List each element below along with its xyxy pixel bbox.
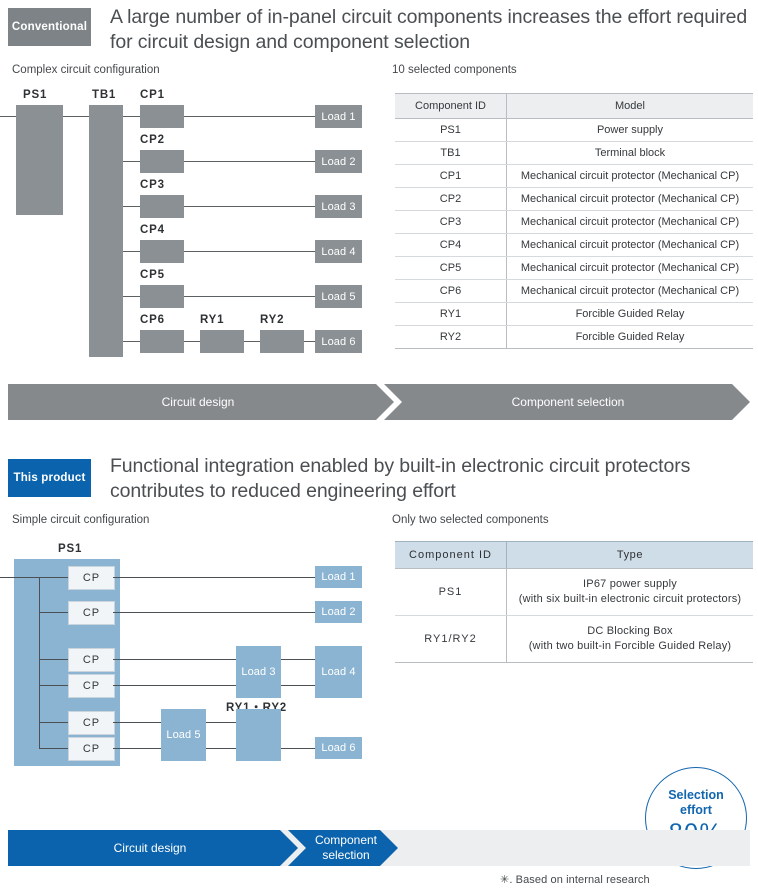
badge-conventional: Conventional [8,8,91,46]
block-cp-4: CP [68,674,115,698]
cell-component-id: CP3 [395,211,507,234]
tag-ry1: RY1 [200,314,224,326]
diagram-product: PS1 RY1・RY2 CP CP CP CP CP CP Load 3 Loa… [0,535,380,775]
label-simple-circuit-configuration: Simple circuit configuration [12,514,149,526]
load-box-3-product: Load 3 [236,646,281,698]
cell-type-line1: DC Blocking Box [511,624,749,639]
process-step-circuit-design-product: Circuit design [8,830,292,866]
cell-component-id: RY1/RY2 [395,616,507,663]
table-row: PS1 IP67 power supply (with six built-in… [395,569,753,616]
cell-type-line2: (with two built-in Forcible Guided Relay… [511,639,749,654]
selection-effort-title: Selection effort [668,788,724,818]
cell-model: Mechanical circuit protector (Mechanical… [507,211,754,234]
wire-ps1-tb1 [63,116,89,117]
block-cp1 [140,105,184,128]
wire-load5-ry-top [206,722,236,723]
table-row: CP3Mechanical circuit protector (Mechani… [395,211,753,234]
process-step-line2: selection [322,848,369,863]
table-header-row: Component ID Type [395,542,753,569]
wire-load3-load4-bottom [281,685,315,686]
wire-cp6-ry1 [184,341,200,342]
process-step-component-selection: Component selection [394,384,742,420]
table-row: CP1Mechanical circuit protector (Mechani… [395,165,753,188]
headline-product: Functional integration enabled by built-… [110,454,755,504]
cell-model: Mechanical circuit protector (Mechanical… [507,280,754,303]
cell-component-id: RY2 [395,326,507,349]
load-box-2: Load 2 [315,150,362,173]
table-row: PS1Power supply [395,119,753,142]
wire-tb1-cp6 [123,341,140,342]
wire-tb1-cp2 [123,161,140,162]
block-cp5 [140,285,184,308]
block-cp3 [140,195,184,218]
load-box-4-product: Load 4 [315,646,362,698]
table-header-row: Component ID Model [395,94,753,119]
cell-component-id: PS1 [395,119,507,142]
block-ps1 [16,105,63,215]
label-only-two-selected-components: Only two selected components [392,514,549,526]
block-cp6 [140,330,184,353]
load-box-1: Load 1 [315,105,362,128]
block-cp2 [140,150,184,173]
cell-component-id: CP4 [395,234,507,257]
wire-cp5-load5 [184,296,315,297]
selection-effort-title-line1: Selection [668,788,724,803]
table-row: CP6Mechanical circuit protector (Mechani… [395,280,753,303]
tag-cp2: CP2 [140,134,165,146]
table-row: CP5Mechanical circuit protector (Mechani… [395,257,753,280]
badge-this-product: This product [8,459,91,497]
wire-cp4-load3 [113,685,236,686]
block-cp-3: CP [68,648,115,672]
wire-bus-cp6 [39,748,68,749]
cell-model: Mechanical circuit protector (Mechanical… [507,257,754,280]
cell-model: Power supply [507,119,754,142]
headline-conventional: A large number of in-panel circuit compo… [110,5,755,55]
block-cp-5: CP [68,711,115,735]
block-ry1-ry2-product [236,709,281,761]
load-box-4: Load 4 [315,240,362,263]
column-header-type: Type [507,542,754,569]
wire-feed-in-product [0,577,39,578]
wire-bus-cp4 [39,685,68,686]
load-box-3: Load 3 [315,195,362,218]
cell-component-id: CP5 [395,257,507,280]
cell-model: Forcible Guided Relay [507,303,754,326]
wire-cp1-load1 [184,116,315,117]
block-ry2 [260,330,304,353]
tag-cp4: CP4 [140,224,165,236]
cell-component-id: RY1 [395,303,507,326]
wire-tb1-cp4 [123,251,140,252]
label-selected-components-count: 10 selected components [392,64,517,76]
wire-tb1-cp3 [123,206,140,207]
cell-model: Mechanical circuit protector (Mechanical… [507,165,754,188]
table-row: CP2Mechanical circuit protector (Mechani… [395,188,753,211]
cell-component-id: CP1 [395,165,507,188]
table-row: CP4Mechanical circuit protector (Mechani… [395,234,753,257]
block-cp-1: CP [68,566,115,590]
wire-ry2-load6 [304,341,315,342]
block-cp-2: CP [68,601,115,625]
cell-model: Mechanical circuit protector (Mechanical… [507,234,754,257]
block-tb1 [89,105,123,357]
wire-bus-cp3 [39,659,68,660]
wire-cp3-load3 [184,206,315,207]
wire-ry1-ry2 [244,341,260,342]
load-box-1-product: Load 1 [315,566,362,588]
label-complex-circuit-configuration: Complex circuit configuration [12,64,160,76]
cell-component-id: CP6 [395,280,507,303]
cell-model: Mechanical circuit protector (Mechanical… [507,188,754,211]
cell-type-line2: (with six built-in electronic circuit pr… [511,592,749,607]
column-header-model: Model [507,94,754,119]
wire-bus-cp2 [39,612,68,613]
tag-tb1: TB1 [92,89,116,101]
wire-tb1-cp1 [123,116,140,117]
wire-cp3-load3 [113,659,236,660]
cell-model: Terminal block [507,142,754,165]
tag-ps1-product: PS1 [58,543,82,555]
process-step-line1: Component [315,833,377,848]
table-conventional-components: Component ID Model PS1Power supply TB1Te… [395,93,753,349]
wire-bus-cp5 [39,722,68,723]
wire-cp2-load2 [184,161,315,162]
tag-cp5: CP5 [140,269,165,281]
cell-component-id: CP2 [395,188,507,211]
tag-cp3: CP3 [140,179,165,191]
table-row: RY2Forcible Guided Relay [395,326,753,349]
tag-cp6: CP6 [140,314,165,326]
wire-feed-in [0,116,16,117]
table-row: RY1Forcible Guided Relay [395,303,753,326]
wire-cp5-load5 [113,722,161,723]
wire-cp2-load2 [113,612,315,613]
load-box-5: Load 5 [315,285,362,308]
column-header-component-id: Component ID [395,542,507,569]
cell-type-line1: IP67 power supply [511,577,749,592]
table-row: TB1Terminal block [395,142,753,165]
selection-effort-title-line2: effort [668,803,724,818]
column-header-component-id: Component ID [395,94,507,119]
process-step-circuit-design: Circuit design [8,384,388,420]
wire-cp6-load5 [113,748,161,749]
cell-component-id: PS1 [395,569,507,616]
table-product-components: Component ID Type PS1 IP67 power supply … [395,541,753,663]
load-box-6-product: Load 6 [315,737,362,759]
wire-bus-cp1 [39,577,68,578]
diagram-conventional: PS1 TB1 CP1 CP2 CP3 CP4 CP5 CP6 RY1 RY2 … [0,85,380,365]
block-ry1 [200,330,244,353]
cell-type: DC Blocking Box (with two built-in Forci… [507,616,754,663]
tag-cp1: CP1 [140,89,165,101]
wire-ry-load6 [281,748,315,749]
load-box-5-product: Load 5 [161,709,206,761]
process-bar-conventional: Circuit design Component selection [8,384,750,420]
block-cp4 [140,240,184,263]
wire-cp1-load1 [113,577,315,578]
cell-model: Forcible Guided Relay [507,326,754,349]
table-row: RY1/RY2 DC Blocking Box (with two built-… [395,616,753,663]
process-step-component-selection-product: Component selection [304,830,388,866]
process-bar-product: Circuit design Component selection [8,830,750,866]
wire-tb1-cp5 [123,296,140,297]
footnote: ✳. Based on internal research [500,873,650,886]
cell-type: IP67 power supply (with six built-in ele… [507,569,754,616]
load-box-6: Load 6 [315,330,362,353]
block-cp-6: CP [68,737,115,761]
wire-load5-ry-bottom [206,748,236,749]
load-box-2-product: Load 2 [315,601,362,623]
cell-component-id: TB1 [395,142,507,165]
wire-cp4-load4 [184,251,315,252]
tag-ry2: RY2 [260,314,284,326]
tag-ps1: PS1 [23,89,47,101]
wire-load3-load4-top [281,659,315,660]
